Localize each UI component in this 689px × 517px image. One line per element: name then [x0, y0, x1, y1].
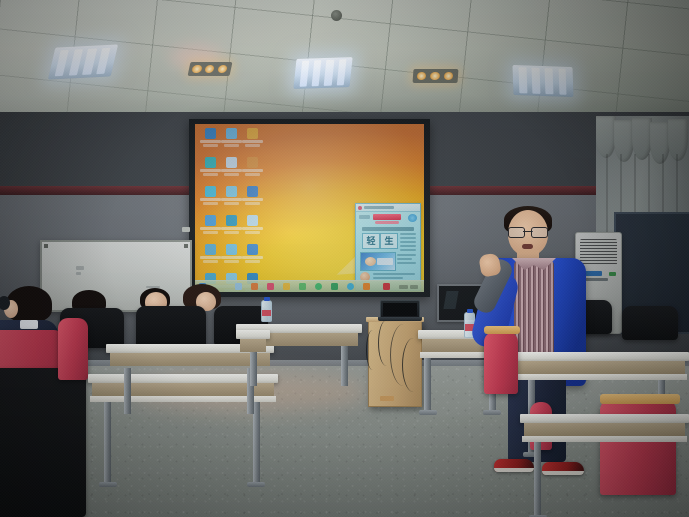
ceiling-shading — [0, 0, 689, 122]
chair-seat-left-2[interactable] — [58, 318, 88, 380]
desk-bottom-right — [520, 414, 689, 444]
eyeglasses-icon — [508, 227, 548, 236]
ceiling — [0, 0, 689, 122]
classroom-photo: 轻 生 — [0, 0, 689, 517]
chair-back-far-right[interactable] — [622, 306, 678, 340]
speaker-mouth — [522, 244, 533, 249]
student-1-collar — [20, 320, 38, 329]
speaker-shoe-left — [494, 459, 534, 472]
chair-foreground-left-back[interactable] — [0, 368, 86, 517]
chair-seat-front-right[interactable] — [484, 332, 518, 394]
speaker-striped-shirt — [514, 260, 554, 364]
water-bottle-2[interactable] — [261, 300, 272, 322]
armrest-bottom-right — [600, 394, 680, 404]
speaker-gesturing-hand — [478, 252, 502, 277]
desk-mid-right — [512, 352, 689, 382]
cable-tape — [380, 396, 394, 401]
speaker-shoe-right — [542, 462, 584, 475]
chair-row-back-2[interactable] — [136, 306, 206, 348]
armrest-front-right — [484, 326, 520, 334]
desk-left-stub — [236, 330, 270, 356]
